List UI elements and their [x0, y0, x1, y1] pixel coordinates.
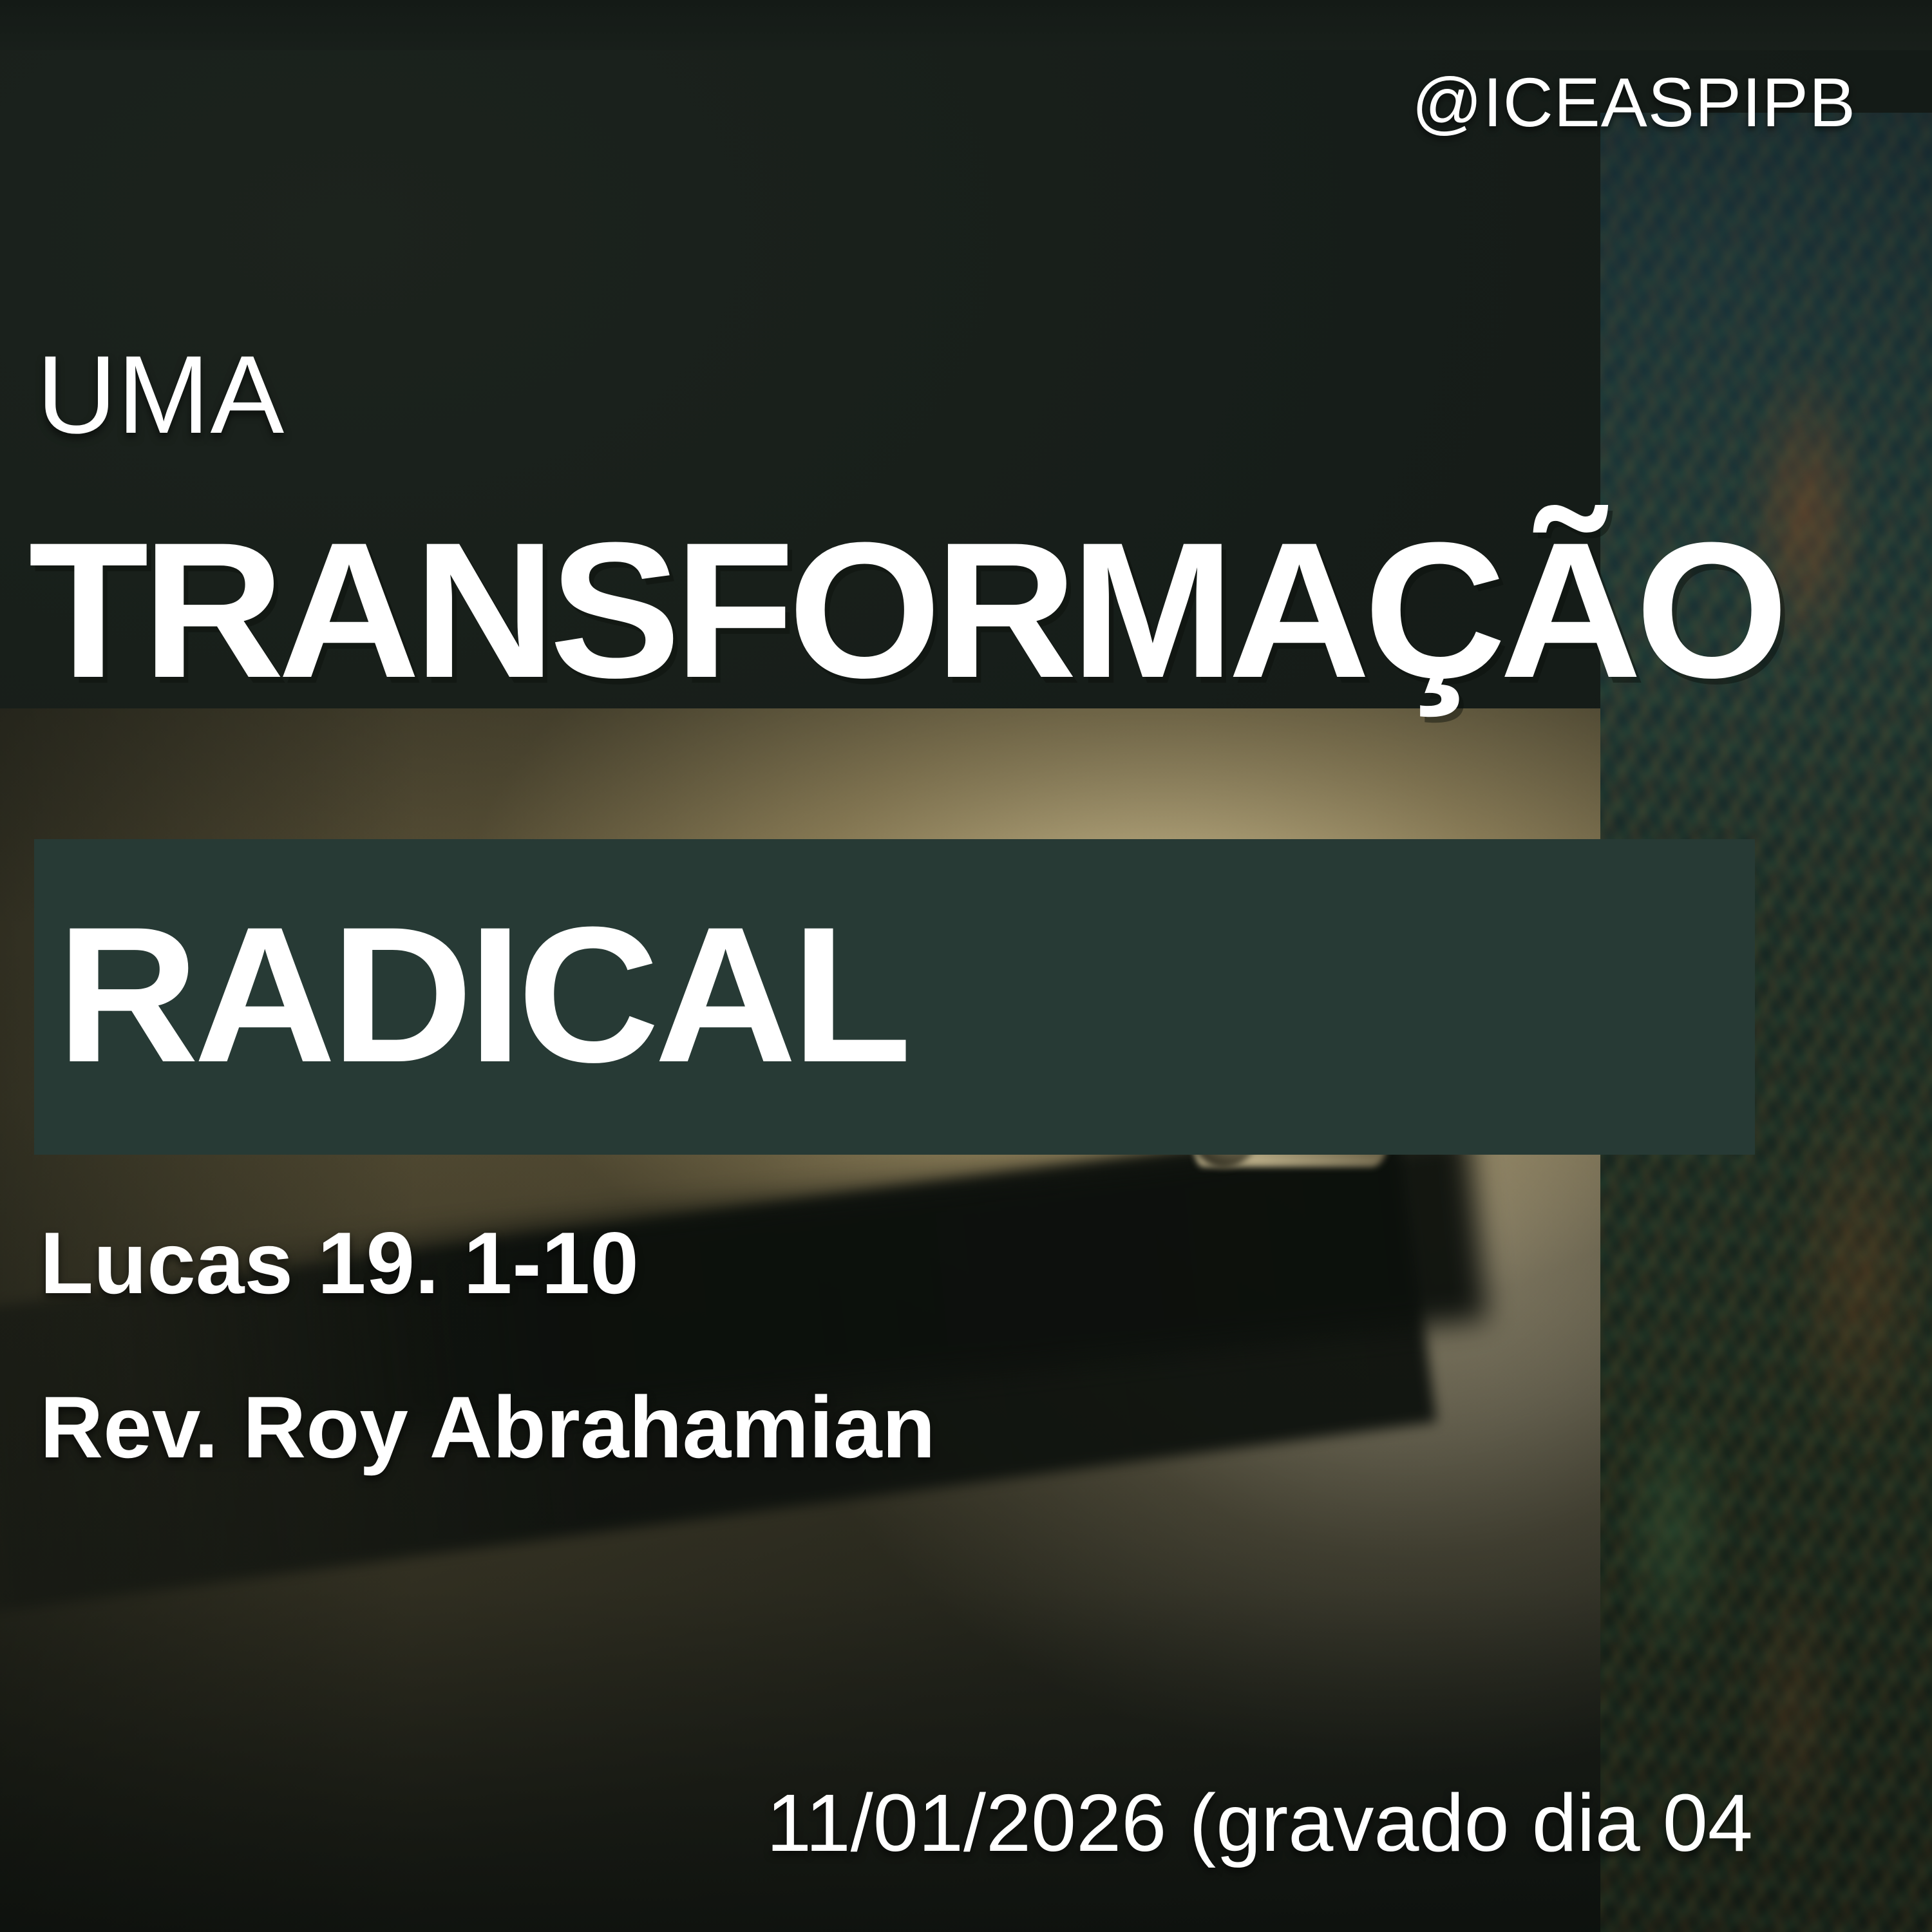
- title-highlight-word: RADICAL: [57, 911, 907, 1077]
- sermon-title-slide: @ICEASPIPB UMA TRANSFORMAÇÃO RADICAL Luc…: [0, 0, 1932, 1932]
- speaker-name: Rev. Roy Abrahamian: [40, 1383, 936, 1471]
- top-edge-strip: [0, 0, 1932, 50]
- date-stamp: 11/01/2026 (gravado dia 04: [766, 1783, 1753, 1864]
- scripture-reference: Lucas 19. 1-10: [40, 1219, 639, 1307]
- title-kicker: UMA: [37, 339, 285, 450]
- social-handle: @ICEASPIPB: [1412, 62, 1856, 142]
- title-main: TRANSFORMAÇÃO: [28, 527, 1782, 693]
- title-highlight-band: RADICAL: [34, 839, 1755, 1155]
